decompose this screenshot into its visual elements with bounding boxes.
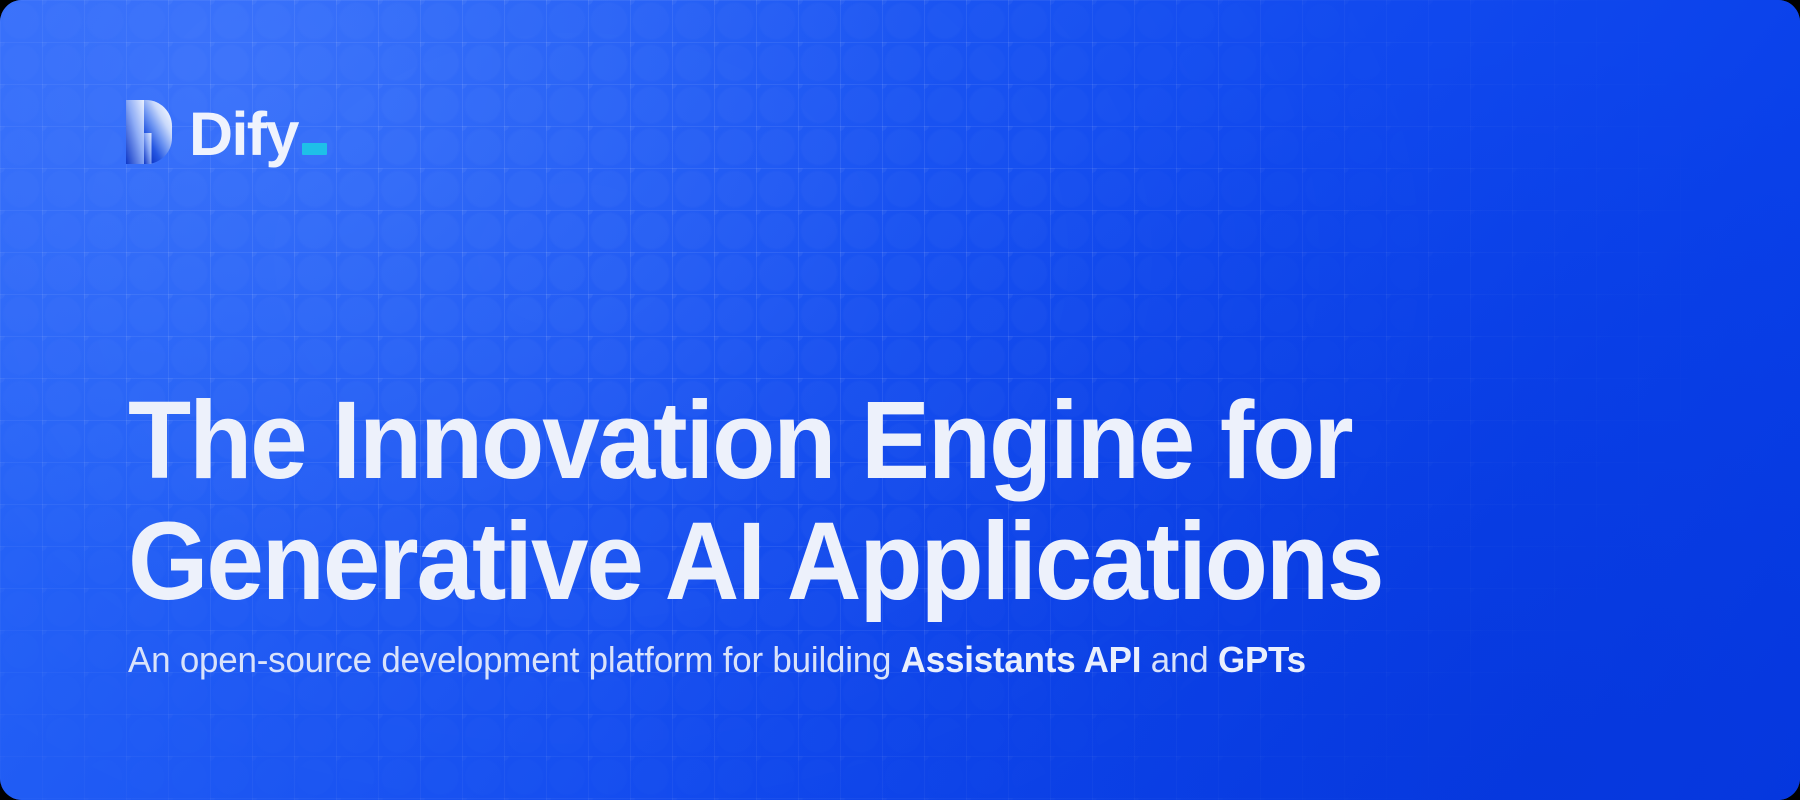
subtitle-text-part-2: and — [1141, 639, 1218, 680]
subtitle-emphasis-gpts: GPTs — [1218, 639, 1306, 680]
headline-line-1: The Innovation Engine for — [128, 380, 1350, 501]
dify-logo-mark-icon — [126, 100, 172, 164]
dify-wordmark: Dify — [189, 104, 298, 165]
banner-content: Dify The Innovation Engine for Generativ… — [0, 0, 1800, 800]
dify-logo-lockup[interactable]: Dify — [126, 100, 327, 164]
subtitle-text-part-1: An open-source development platform for … — [128, 639, 901, 680]
dify-accent-dash-icon — [302, 143, 327, 155]
headline-line-2: Generative AI Applications — [128, 501, 1350, 622]
dify-hero-banner: Dify The Innovation Engine for Generativ… — [0, 0, 1800, 800]
subtitle-emphasis-assistants-api: Assistants API — [901, 639, 1142, 680]
hero-subtitle: An open-source development platform for … — [128, 637, 1306, 684]
hero-headline: The Innovation Engine for Generative AI … — [128, 380, 1428, 622]
dify-wordmark-group: Dify — [189, 102, 327, 163]
